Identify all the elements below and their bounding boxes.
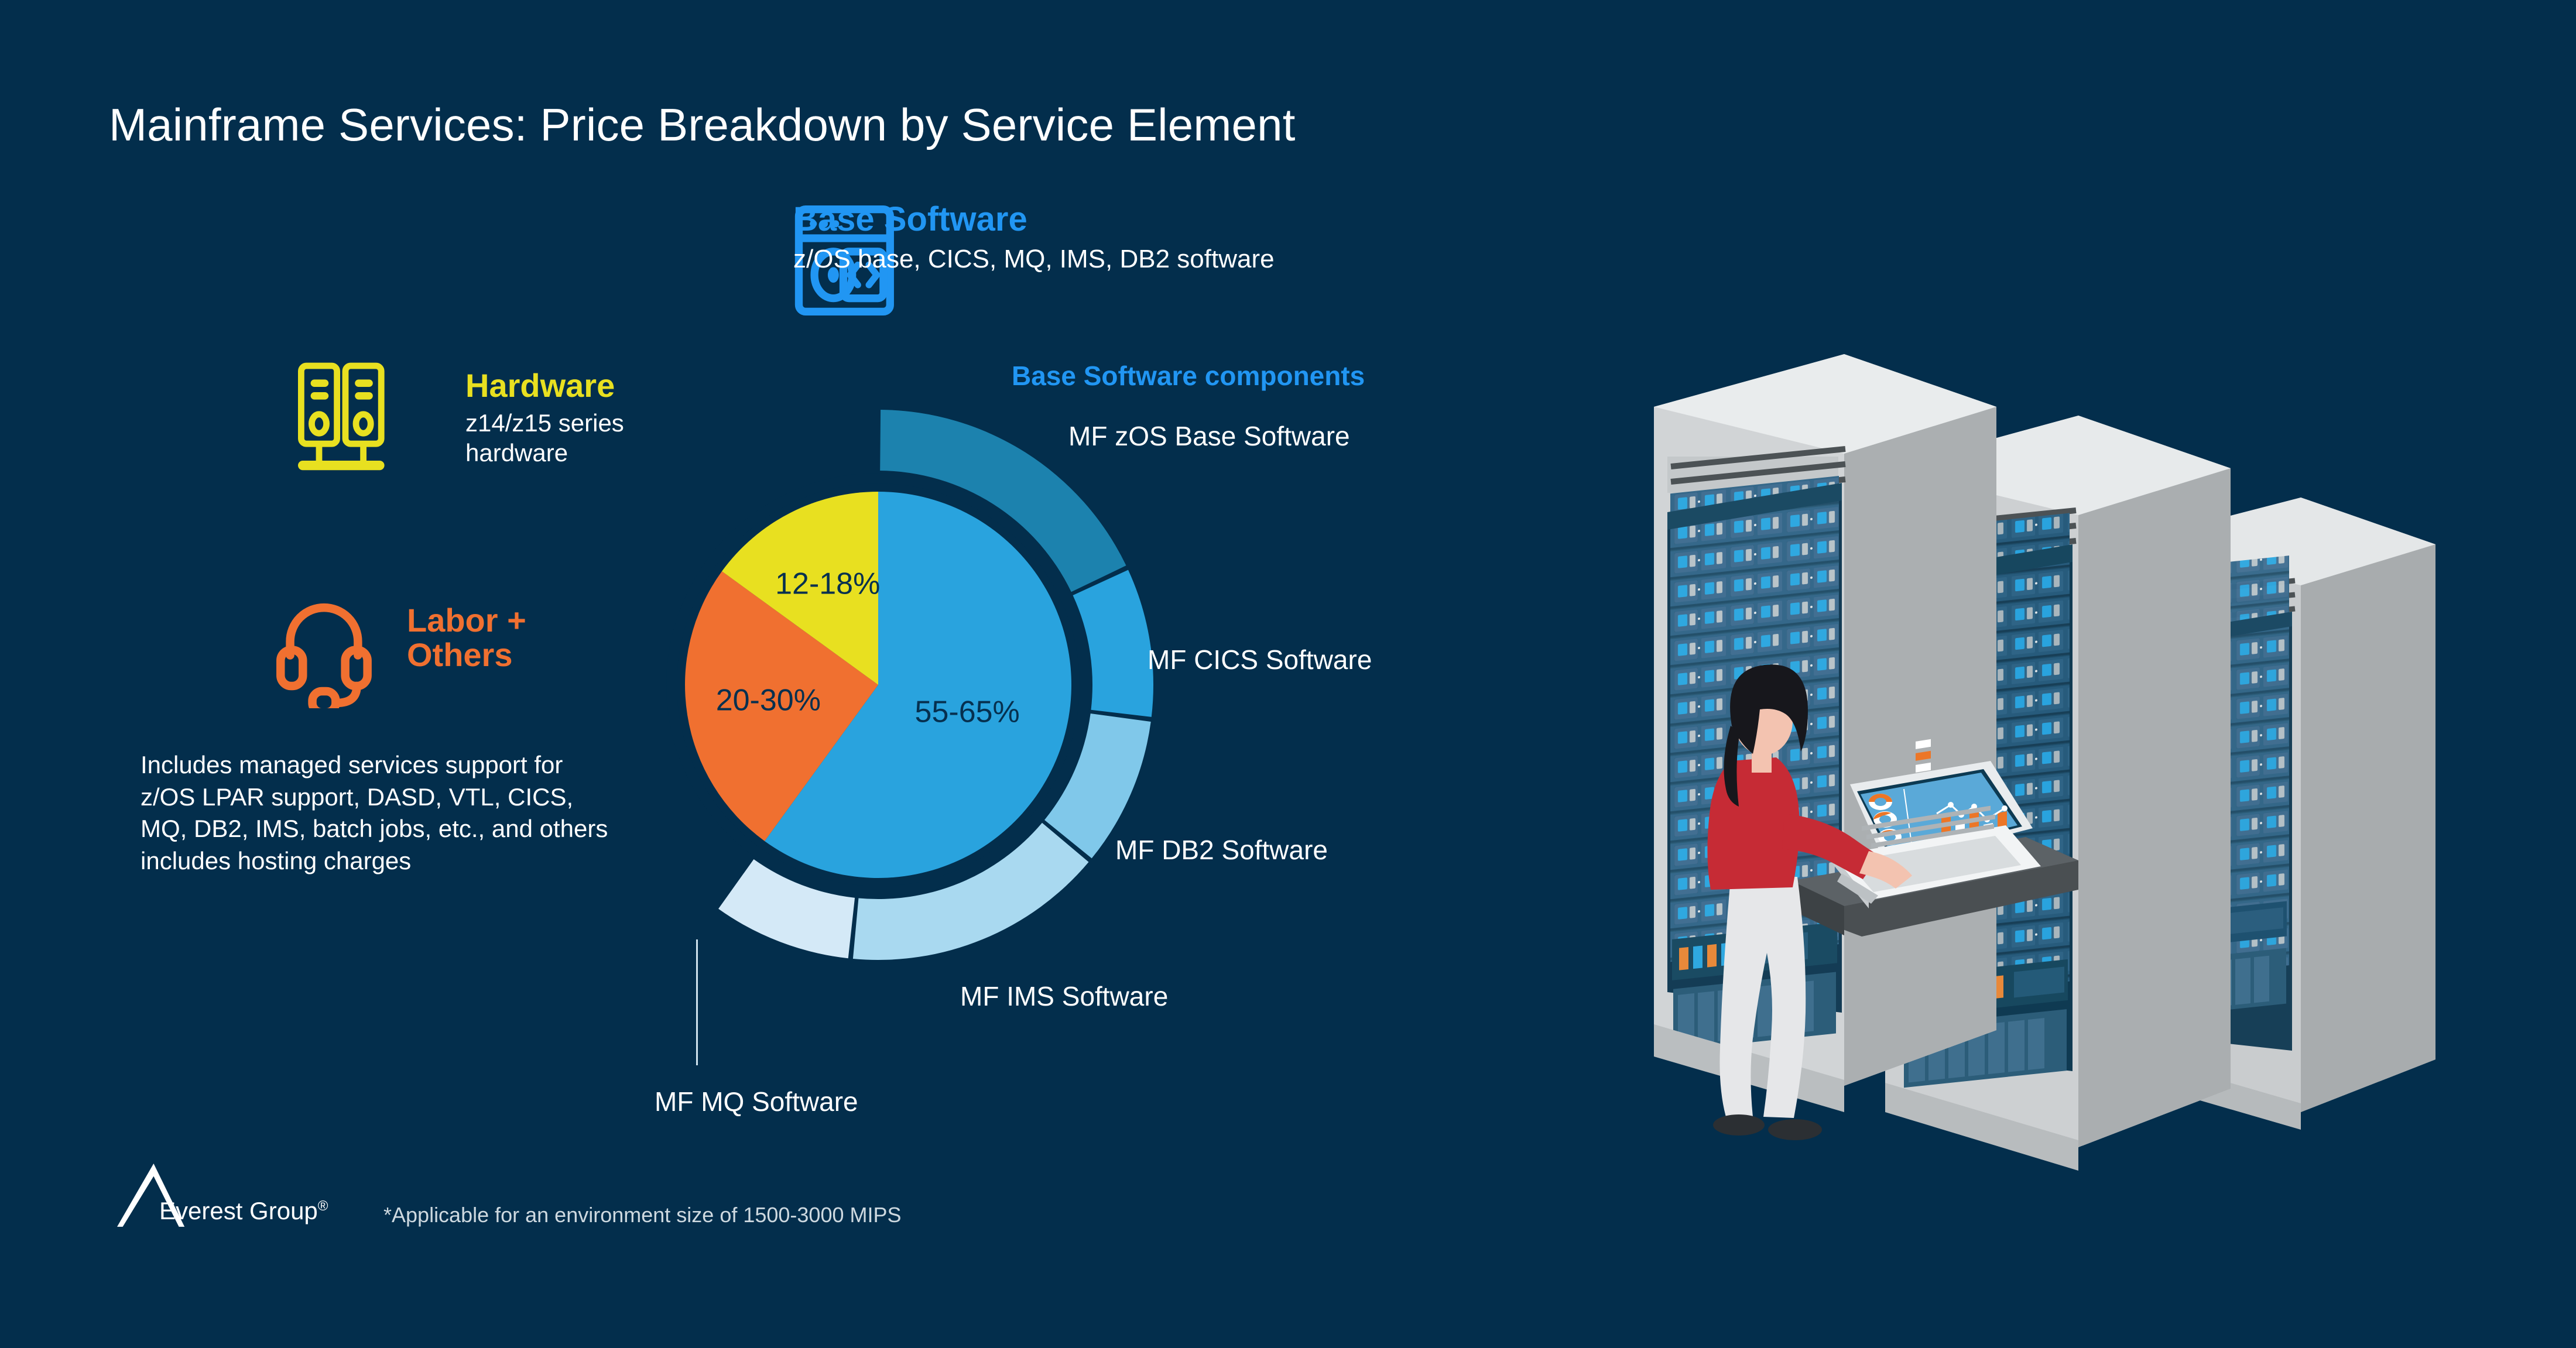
callout-base-software-description: z/OS base, CICS, MQ, IMS, DB2 software bbox=[793, 243, 1275, 275]
pie-label-labor-others: 20-30% bbox=[716, 684, 821, 718]
segment-label-mf-ims-software: MF IMS Software bbox=[960, 980, 1168, 1012]
segment-label-mf-cics-software: MF CICS Software bbox=[1147, 644, 1372, 675]
pie-label-hardware: 12-18% bbox=[775, 567, 880, 601]
server-tower-icon bbox=[293, 360, 398, 480]
segment-label-mf-db2-software: MF DB2 Software bbox=[1115, 834, 1328, 866]
everest-group-name: Everest Group bbox=[159, 1197, 318, 1224]
server-rack-1 bbox=[1654, 354, 1996, 1112]
callout-base-software: Base Software z/OS base, CICS, MQ, IMS, … bbox=[793, 202, 1275, 275]
mq-leader-line bbox=[696, 939, 698, 1065]
callout-base-software-heading: Base Software bbox=[793, 202, 1275, 238]
segment-label-mf-mq-software: MF MQ Software bbox=[655, 1086, 858, 1117]
data-center-illustration bbox=[1616, 351, 2453, 1220]
pie-label-base-software: 55-65% bbox=[915, 695, 1020, 729]
page-title: Mainframe Services: Price Breakdown by S… bbox=[109, 98, 1296, 152]
everest-group-logo-text: Everest Group® bbox=[159, 1197, 328, 1225]
infographic-canvas: Mainframe Services: Price Breakdown by S… bbox=[0, 0, 2576, 1348]
segment-label-mf-zos-base-software: MF zOS Base Software bbox=[1068, 420, 1350, 452]
callout-labor-heading: Labor + Others bbox=[407, 603, 600, 673]
footnote: *Applicable for an environment size of 1… bbox=[383, 1203, 902, 1227]
registered-trademark-icon: ® bbox=[318, 1198, 328, 1214]
callout-labor: Labor + Others bbox=[407, 603, 600, 673]
callout-labor-description: Includes managed services support for z/… bbox=[141, 749, 609, 877]
headset-icon bbox=[275, 597, 383, 711]
